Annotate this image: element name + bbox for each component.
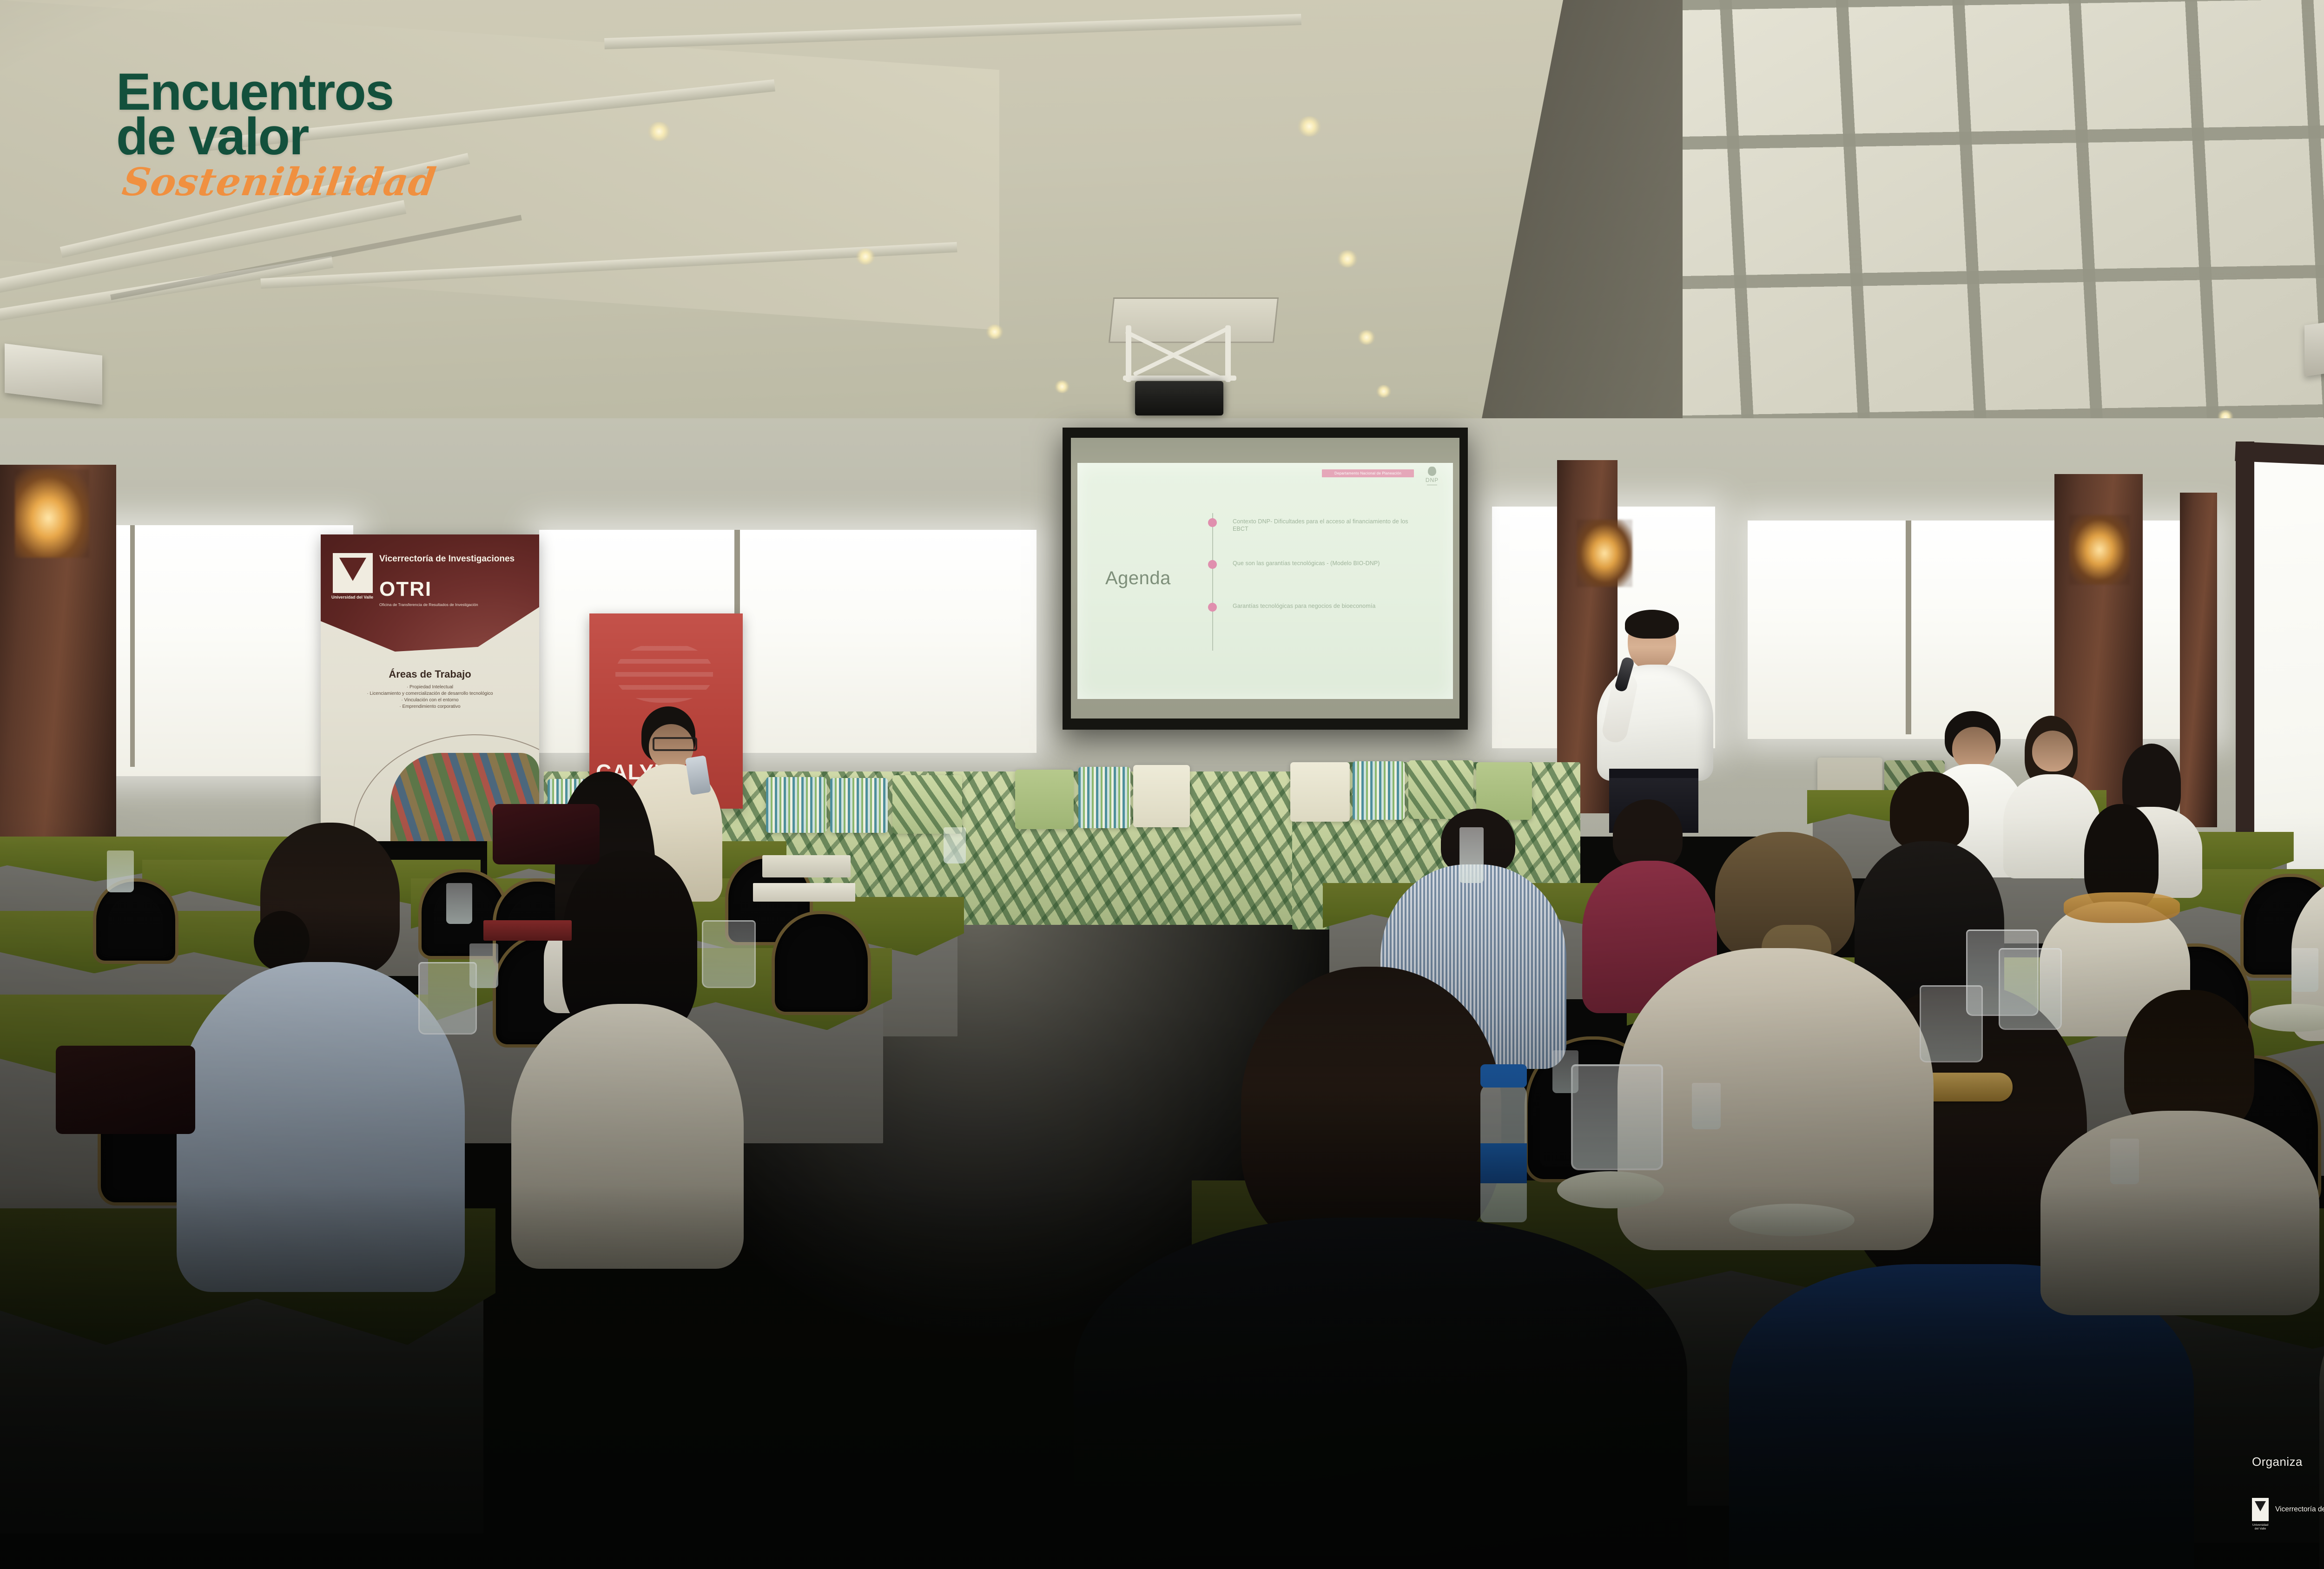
wall-sconce-icon xyxy=(2069,515,2130,585)
agenda-bullet: Garantías tecnológicas para negocios de … xyxy=(1217,602,1421,610)
window-mullion xyxy=(130,525,135,767)
agenda-bullet-text: Que son las garantías tecnológicas - (Mo… xyxy=(1233,560,1421,567)
water-pitcher xyxy=(1999,948,2062,1030)
pillow xyxy=(1133,765,1190,827)
fruit-plate xyxy=(2064,892,2180,923)
univalle-name: Universidad del Valle xyxy=(329,595,376,600)
attendee-foreground xyxy=(507,850,748,1269)
organiza-block: Organiza Universidad del Valle Vicerrect… xyxy=(2252,1455,2324,1524)
slide-org-bar: Departamento Nacional de Planeación xyxy=(1322,469,1414,477)
recessed-downlight xyxy=(855,248,876,265)
bullet-dot-icon xyxy=(1208,603,1217,612)
title-line-2: de valor xyxy=(116,114,436,159)
wall-sconce-icon xyxy=(1577,520,1632,587)
recessed-downlight xyxy=(647,122,671,141)
event-title-overlay: Encuentros de valor Sostenibilidad xyxy=(116,70,436,199)
head-back xyxy=(1241,967,1501,1255)
presentation-slide: Departamento Nacional de Planeación DNP … xyxy=(1077,463,1453,699)
banner-area-list: · Propiedad Intelectual· Licenciamiento … xyxy=(321,684,539,710)
pillow xyxy=(1015,770,1074,829)
bullet-dot-icon xyxy=(1208,560,1217,569)
water-glass xyxy=(2110,1139,2139,1184)
pillow xyxy=(1078,767,1130,828)
event-subtitle: Sostenibilidad xyxy=(120,165,438,199)
otri-rollup-banner: Universidad del Valle Vicerrectoría de I… xyxy=(321,534,539,841)
water-pitcher xyxy=(702,920,756,988)
bag xyxy=(56,1046,195,1134)
belt xyxy=(1609,769,1698,778)
napkin xyxy=(1729,1204,1855,1236)
recessed-downlight xyxy=(1297,116,1322,137)
slide-title: Agenda xyxy=(1105,568,1171,589)
water-glass xyxy=(944,827,966,864)
recessed-downlight xyxy=(985,324,1004,339)
agenda-bullet-text: Contexto DNP- Dificultades para el acces… xyxy=(1233,518,1421,533)
bottle-cap-icon xyxy=(1480,1064,1527,1088)
agenda-bullet: Contexto DNP- Dificultades para el acces… xyxy=(1217,518,1421,533)
water-glass xyxy=(2291,948,2318,992)
attendee-foreground xyxy=(167,823,474,1292)
calypso-mark-icon xyxy=(615,642,713,703)
torso xyxy=(511,1004,744,1269)
projection-screen: Departamento Nacional de Planeación DNP … xyxy=(1063,428,1468,730)
agenda-bullet-text: Garantías tecnológicas para negocios de … xyxy=(1233,602,1421,610)
water-pitcher xyxy=(1920,985,1983,1062)
pillow xyxy=(830,778,888,833)
water-glass xyxy=(1459,827,1484,883)
agenda-timeline-rail xyxy=(1212,513,1213,651)
water-glass xyxy=(469,943,498,988)
univalle-caption: Universidad del Valle xyxy=(2252,1523,2269,1530)
napkin xyxy=(1557,1171,1664,1208)
pillow xyxy=(892,775,962,834)
window xyxy=(1748,521,2217,739)
pillow xyxy=(1290,762,1350,822)
tshirt xyxy=(1074,1218,1687,1569)
univalle-logo-icon: Universidad del Valle xyxy=(2252,1498,2269,1521)
dnp-logo-icon: DNP xyxy=(1421,467,1443,488)
window-mullion xyxy=(1906,521,1911,734)
water-glass xyxy=(1692,1083,1721,1129)
head xyxy=(2032,731,2073,771)
otri-acronym: OTRI xyxy=(379,579,432,600)
head xyxy=(1952,727,1996,770)
recessed-downlight xyxy=(1337,250,1358,268)
vicerrectoria-name: Vicerrectoría de Investigaciones xyxy=(379,554,519,564)
conference-photo: Departamento Nacional de Planeación DNP … xyxy=(0,0,2324,1569)
recessed-downlight xyxy=(1054,380,1070,393)
folder xyxy=(483,920,572,941)
water-pitcher xyxy=(418,962,477,1035)
notebook xyxy=(762,855,851,877)
presenter-hair xyxy=(1625,610,1679,639)
pillow xyxy=(766,777,826,833)
attendee-foreground xyxy=(2036,990,2324,1315)
banner-section-title: Áreas de Trabajo xyxy=(321,668,539,680)
vicerrectoria-label: Vicerrectoría de Investigaciones xyxy=(2275,1505,2324,1514)
wall-sconce-icon xyxy=(15,469,89,558)
water-glass xyxy=(107,850,134,892)
bottle-label xyxy=(1480,1143,1527,1183)
water-glass xyxy=(446,883,472,924)
document xyxy=(753,883,855,902)
dnp-acronym: DNP xyxy=(1421,477,1443,483)
projector-icon xyxy=(1135,381,1223,415)
bag xyxy=(493,804,600,864)
water-pitcher xyxy=(1571,1064,1663,1170)
otri-expansion: Oficina de Transferencia de Resultados d… xyxy=(379,602,519,607)
presenter xyxy=(1585,613,1724,831)
attendee-foreground xyxy=(1074,967,1687,1569)
torso xyxy=(2040,1111,2319,1315)
bullet-dot-icon xyxy=(1208,518,1217,527)
univalle-logo-icon xyxy=(333,553,373,593)
recessed-downlight xyxy=(1376,385,1392,398)
agenda-bullet: Que son las garantías tecnológicas - (Mo… xyxy=(1217,560,1421,567)
projector-lift-icon xyxy=(1119,325,1240,418)
water-glass xyxy=(1552,1050,1578,1093)
glasses-icon xyxy=(653,737,697,751)
chair xyxy=(772,911,865,1009)
organiza-label: Organiza xyxy=(2252,1455,2324,1469)
recessed-downlight xyxy=(1357,330,1376,345)
